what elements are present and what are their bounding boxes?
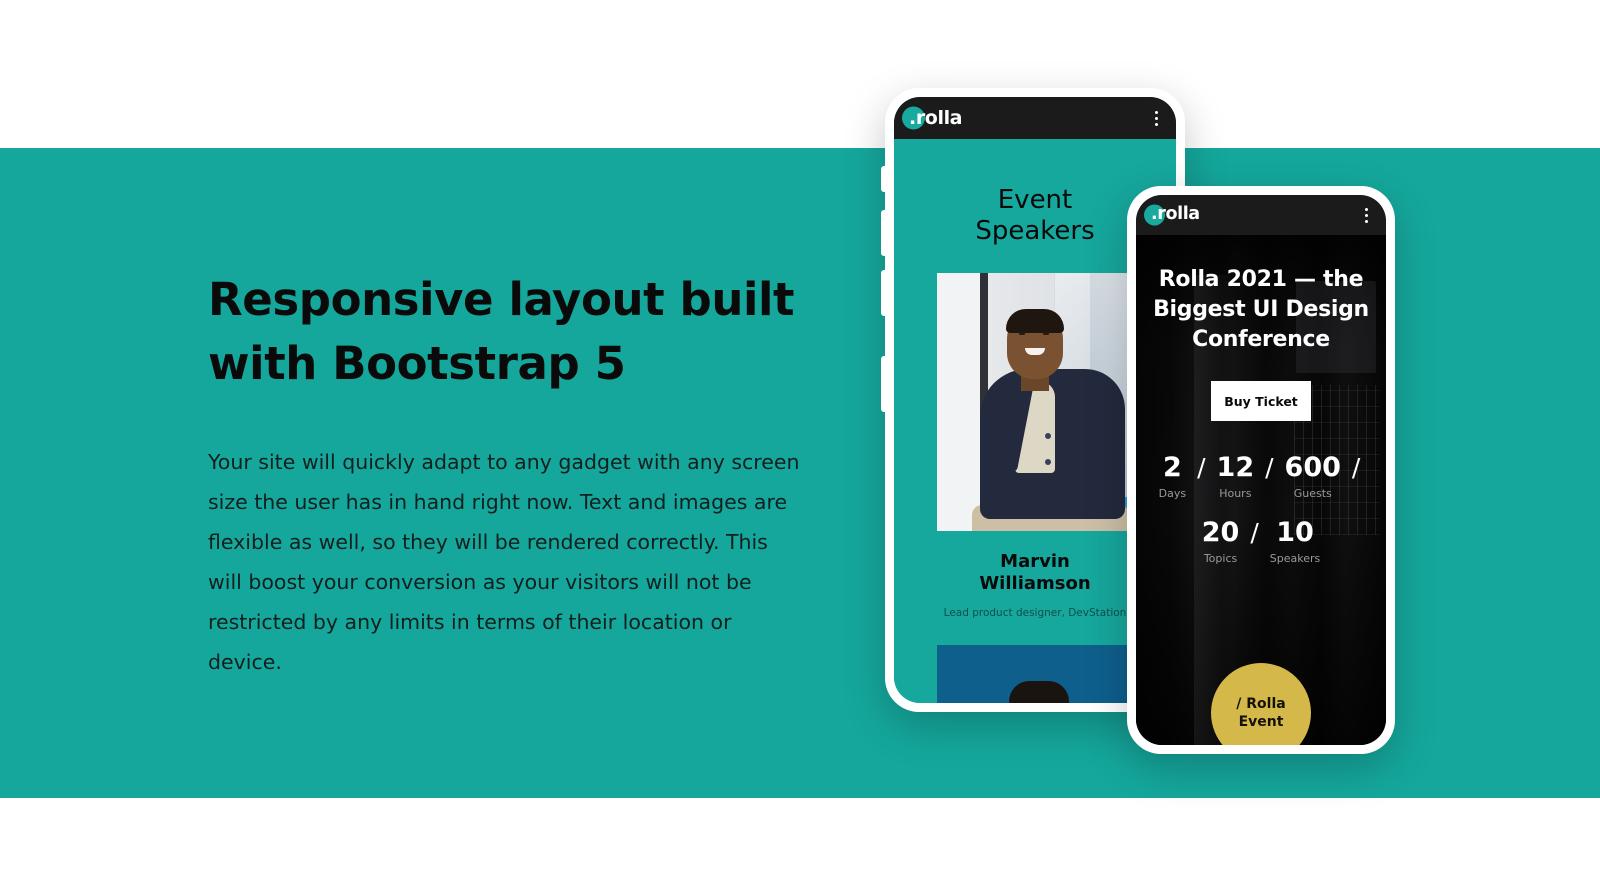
stat-separator: / (1190, 453, 1212, 483)
app-bar-speakers: .rolla (894, 97, 1176, 139)
stats-row-primary: 2 Days / 12 Hours / 600 Guests (1156, 453, 1366, 500)
kebab-dot (1155, 111, 1158, 114)
kebab-dot (1365, 208, 1368, 211)
stat-label: Guests (1285, 487, 1341, 500)
phone-screen-event: .rolla Rolla 2021 — the Biggest UI Desig… (1136, 195, 1386, 745)
kebab-dot (1365, 214, 1368, 217)
logo-text: rolla (916, 107, 962, 129)
rolla-event-badge-label: / Rolla Event (1236, 695, 1285, 731)
stat-value: 12 (1217, 453, 1255, 483)
hero-body-text: Your site will quickly adapt to any gadg… (208, 442, 808, 682)
phone-side-button-power[interactable] (881, 356, 886, 412)
stat-days: 2 Days (1155, 453, 1190, 500)
page-title: Responsive layout built with Bootstrap 5 (208, 268, 828, 396)
app-bar-event: .rolla (1136, 195, 1386, 235)
photo-eye-right (1043, 332, 1049, 335)
kebab-dot (1365, 220, 1368, 223)
event-heading: Rolla 2021 — the Biggest UI Design Confe… (1148, 265, 1374, 355)
rolla-logo[interactable]: .rolla (907, 109, 962, 128)
stat-separator: / (1258, 453, 1280, 483)
photo2-hair (1009, 681, 1069, 703)
stat-hours: 12 Hours (1213, 453, 1259, 500)
stat-value: 10 (1270, 518, 1320, 548)
stat-value: 600 (1285, 453, 1341, 483)
phone-side-button-volume-up[interactable] (881, 210, 886, 256)
stat-guests: 600 Guests (1281, 453, 1345, 500)
stat-separator: / (1243, 518, 1265, 548)
photo-hair (1006, 309, 1064, 333)
kebab-dot (1155, 123, 1158, 126)
page-root: Responsive layout built with Bootstrap 5… (0, 0, 1600, 873)
kebab-menu-icon[interactable] (1361, 205, 1372, 226)
phone-side-button-volume-down[interactable] (881, 270, 886, 316)
stat-value: 2 (1159, 453, 1186, 483)
stat-speakers: 10 Speakers (1266, 518, 1324, 565)
kebab-dot (1155, 117, 1158, 120)
stat-label: Hours (1217, 487, 1255, 500)
stat-label: Days (1159, 487, 1186, 500)
stat-separator: / (1345, 453, 1367, 483)
photo-cardigan-button (1045, 433, 1051, 439)
stat-label: Speakers (1270, 552, 1320, 565)
hero-copy-block: Responsive layout built with Bootstrap 5… (208, 268, 828, 682)
speaker-photo-next (937, 645, 1133, 703)
phone-mockup-event: .rolla Rolla 2021 — the Biggest UI Desig… (1127, 186, 1395, 754)
photo-cardigan-button (1045, 459, 1051, 465)
logo-dot: . (909, 107, 916, 129)
logo-text: rolla (1157, 204, 1199, 224)
buy-ticket-button[interactable]: Buy Ticket (1211, 381, 1311, 421)
rolla-logo[interactable]: .rolla (1149, 206, 1200, 224)
phone-side-button-mute[interactable] (881, 166, 886, 192)
stat-label: Topics (1202, 552, 1240, 565)
photo-eye-left (1019, 332, 1025, 335)
stat-value: 20 (1202, 518, 1240, 548)
kebab-menu-icon[interactable] (1151, 108, 1162, 129)
stat-topics: 20 Topics (1198, 518, 1244, 565)
event-screen-content: Rolla 2021 — the Biggest UI Design Confe… (1136, 235, 1386, 745)
speaker-photo (937, 273, 1133, 531)
stats-row-secondary: 20 Topics / 10 Speakers (1156, 518, 1366, 565)
event-stats: 2 Days / 12 Hours / 600 Guests (1136, 453, 1386, 565)
